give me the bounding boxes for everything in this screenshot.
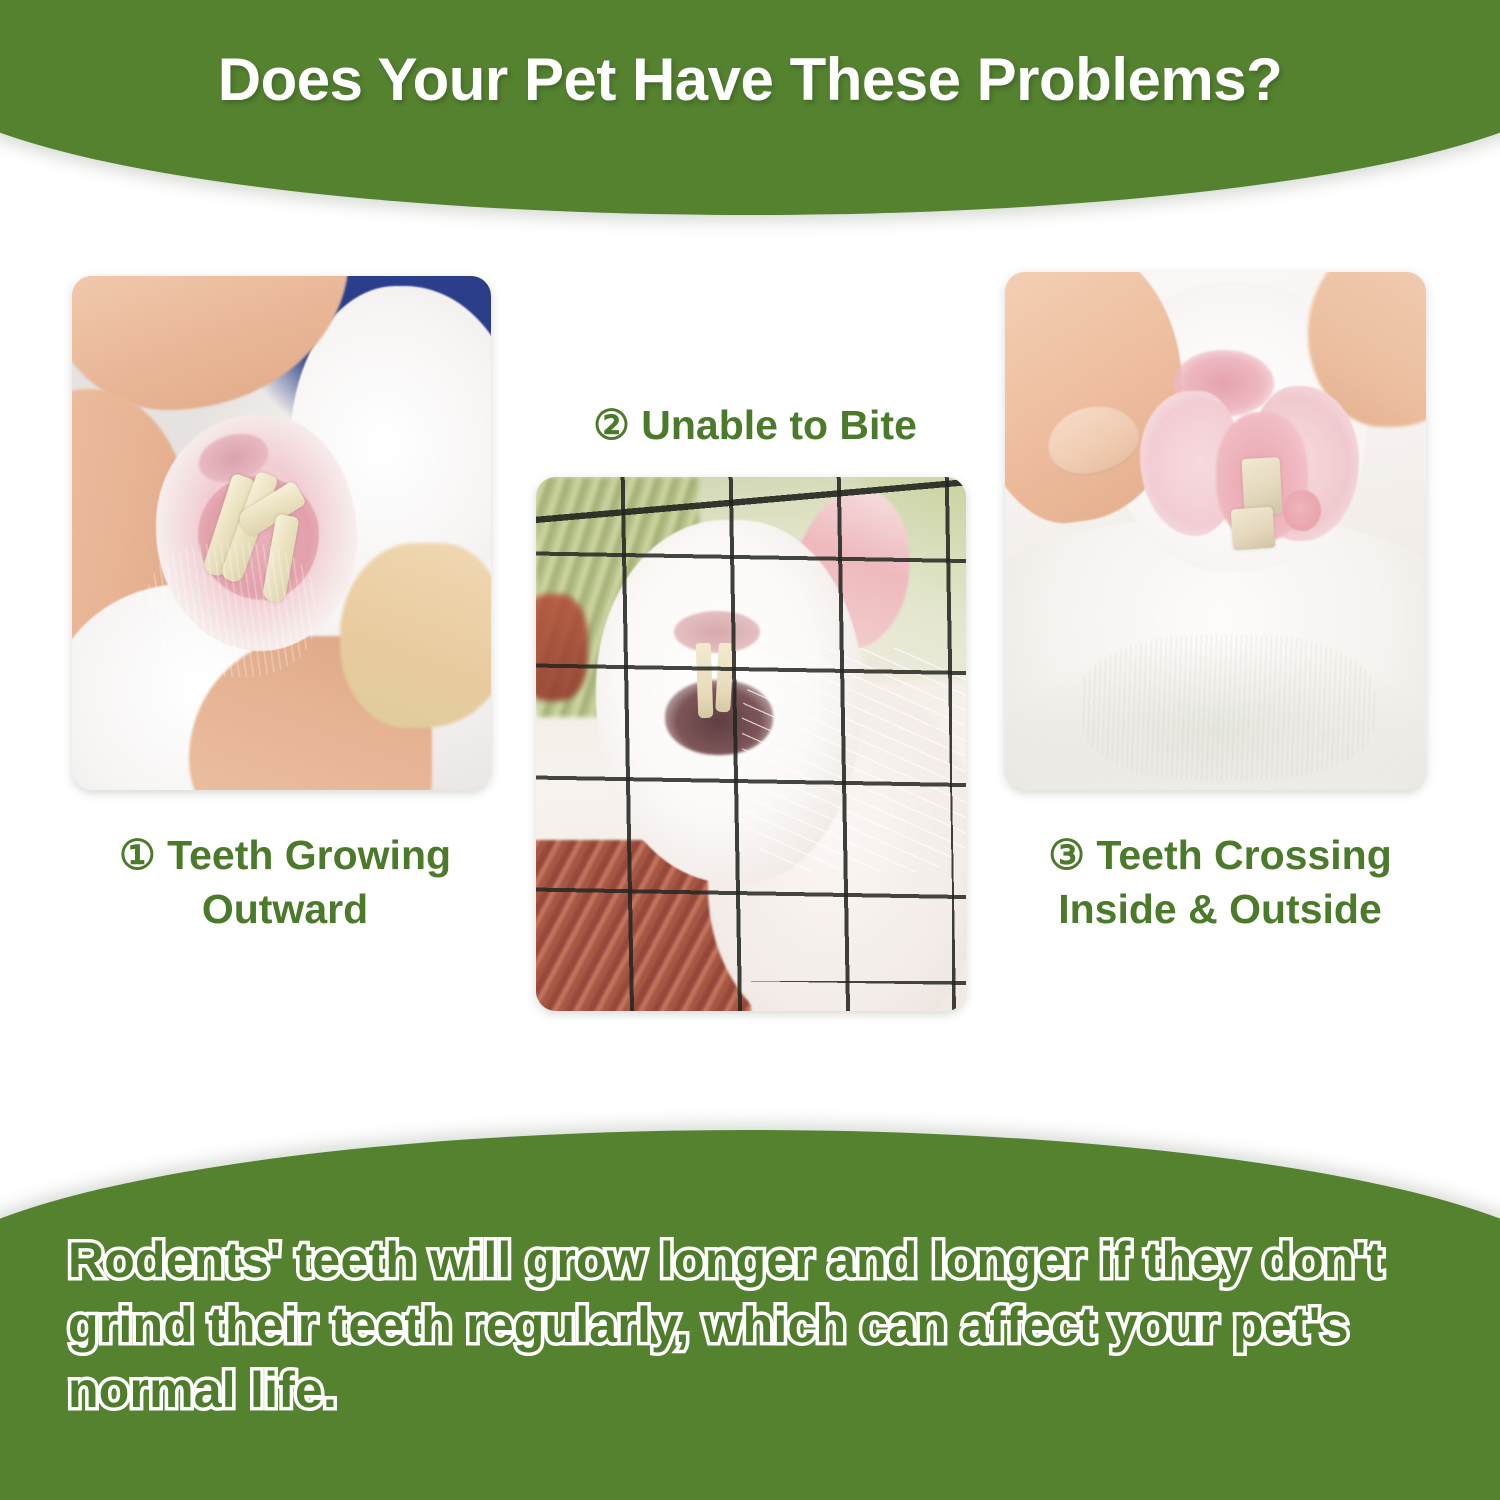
problem-caption-2-line-1: ② Unable to Bite xyxy=(520,398,990,452)
photo-3-artwork xyxy=(1005,272,1426,790)
problem-caption-1-line-1: ① Teeth Growing xyxy=(40,828,530,882)
page-title: Does Your Pet Have These Problems? xyxy=(0,48,1500,111)
footer-message: Rodents' teeth will grow longer and long… xyxy=(68,1228,1398,1423)
problem-caption-3: ③ Teeth Crossing Inside & Outside xyxy=(975,828,1465,936)
problem-caption-3-line-1: ③ Teeth Crossing xyxy=(975,828,1465,882)
photo-3-incisor-lower xyxy=(1231,506,1276,550)
photo-1-finger-right xyxy=(340,543,491,728)
photo-3-shadow xyxy=(1005,645,1426,790)
photo-3-tongue xyxy=(1283,490,1321,531)
infographic-poster: Does Your Pet Have These Problems? xyxy=(0,0,1500,1500)
photo-2-cage-wire-top xyxy=(536,477,966,562)
problem-caption-1: ① Teeth Growing Outward xyxy=(40,828,530,936)
problem-photo-3 xyxy=(1005,272,1426,790)
problem-caption-1-line-2: Outward xyxy=(40,882,530,936)
photo-1-whiskers xyxy=(147,543,315,677)
problem-caption-3-line-2: Inside & Outside xyxy=(975,882,1465,936)
problem-photo-1 xyxy=(72,276,491,790)
problem-photo-2 xyxy=(536,477,966,1011)
photo-2-artwork xyxy=(536,477,966,1011)
photo-1-artwork xyxy=(72,276,491,790)
problem-caption-2: ② Unable to Bite xyxy=(520,398,990,452)
